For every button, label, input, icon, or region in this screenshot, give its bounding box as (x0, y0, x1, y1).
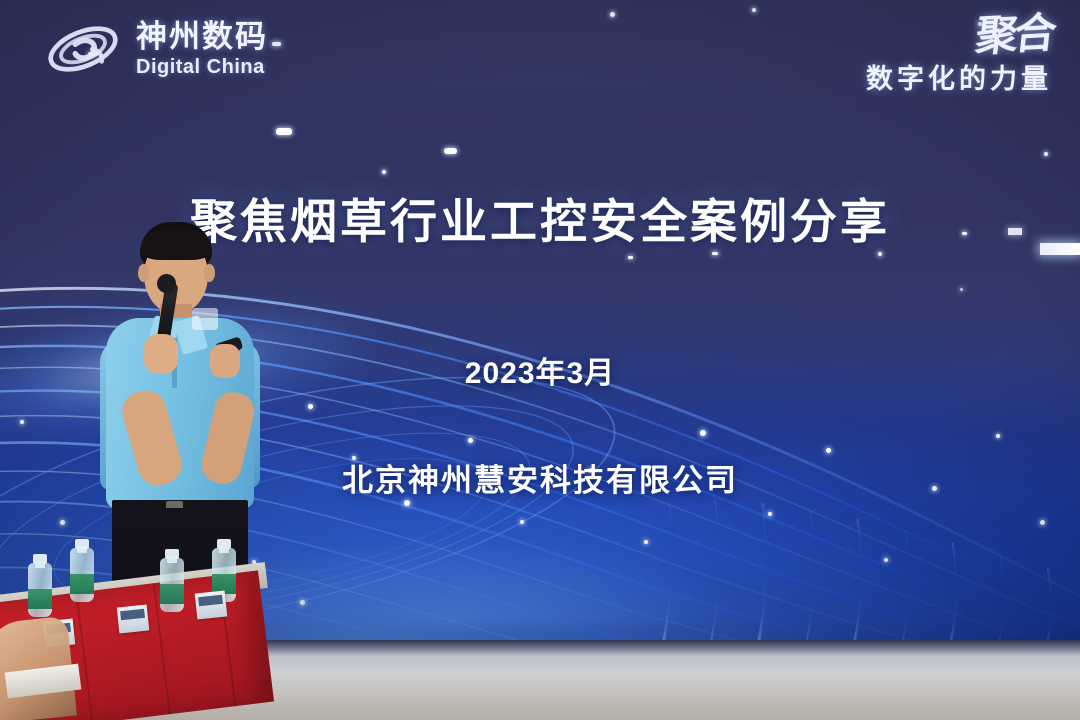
bottle-label (160, 584, 184, 604)
digital-china-logo: 神州数码 Digital China (44, 18, 268, 80)
bottle-label (28, 589, 52, 609)
presenter-hand-right (210, 344, 240, 378)
bottle-body (28, 563, 52, 617)
bottle-body (70, 548, 94, 602)
water-bottle (70, 548, 94, 602)
bottle-label (70, 574, 94, 594)
brand-english-name: Digital China (136, 57, 268, 77)
water-bottle (28, 563, 52, 617)
bottle-neck (219, 546, 229, 553)
event-logo-tagline: 数字化的力量 (866, 57, 1052, 96)
bottle-neck (35, 561, 45, 568)
conference-stage-photo: 神州数码 Digital China 聚合 数字化的力量 聚焦烟草行业工控安全案… (0, 0, 1080, 720)
shirt-logo-icon (192, 308, 218, 330)
digital-china-wordmark: 神州数码 Digital China (136, 21, 268, 77)
name-card (195, 591, 228, 620)
presenter-hand-left (144, 334, 178, 374)
event-logo-mark: 聚合 (974, 14, 1055, 57)
bottle-neck (77, 546, 87, 553)
presenter-hair-front (140, 230, 212, 260)
bottle-neck (167, 556, 177, 563)
water-bottle (160, 558, 184, 612)
presenter-ear-right (204, 264, 215, 282)
name-card (117, 605, 150, 634)
bottle-body (160, 558, 184, 612)
presenter-ear-left (138, 264, 149, 282)
brand-chinese-name: 神州数码 (136, 21, 268, 52)
digital-china-swirl-icon (44, 18, 122, 80)
event-logo: 聚合 数字化的力量 (866, 16, 1052, 96)
